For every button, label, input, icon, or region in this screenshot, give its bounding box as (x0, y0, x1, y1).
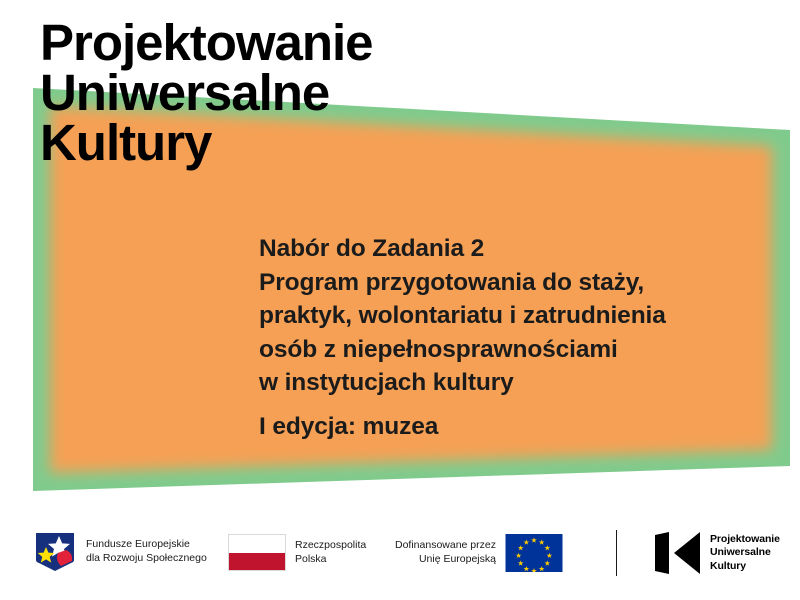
european-union-line-1: Dofinansowane przez (395, 539, 496, 553)
edition-line: I edycja: muzea (259, 410, 759, 444)
puk-line-1: Projektowanie (710, 533, 780, 547)
european-union-line-2: Unię Europejską (395, 553, 496, 567)
body-line-1: Nabór do Zadania 2 (259, 232, 759, 266)
poland-line-1: Rzeczpospolita (295, 539, 366, 553)
poland-label: Rzeczpospolita Polska (295, 539, 366, 567)
poland-flag-red-band (229, 553, 285, 571)
footer-logo-bar: Fundusze Europejskie dla Rozwoju Społecz… (0, 512, 800, 600)
european-union-flag-icon (505, 534, 563, 572)
european-union-label: Dofinansowane przez Unię Europejską (395, 539, 496, 567)
puk-line-2: Uniwersalne (710, 546, 780, 560)
european-funds-icon (33, 530, 77, 574)
headline-line-2: Uniwersalne (40, 68, 560, 118)
headline-line-3: Kultury (40, 118, 560, 168)
body-line-2: Program przygotowania do staży, (259, 266, 759, 300)
european-union-logo-block: Dofinansowane przez Unię Europejską (395, 534, 563, 572)
puk-label: Projektowanie Uniwersalne Kultury (710, 533, 780, 574)
european-funds-line-2: dla Rozwoju Społecznego (86, 552, 207, 566)
footer-divider (616, 530, 617, 576)
headline-line-1: Projektowanie (40, 18, 560, 68)
european-funds-logo-block: Fundusze Europejskie dla Rozwoju Społecz… (33, 530, 207, 574)
body-copy: Nabór do Zadania 2 Program przygotowania… (259, 232, 759, 443)
page-title: Projektowanie Uniwersalne Kultury (40, 18, 560, 168)
body-line-5: w instytucjach kultury (259, 366, 759, 400)
body-line-4: osób z niepełnosprawnościami (259, 333, 759, 367)
poland-line-2: Polska (295, 553, 366, 567)
poster-banner: Projektowanie Uniwersalne Kultury Nabór … (0, 0, 800, 512)
puk-logo-block: Projektowanie Uniwersalne Kultury (655, 532, 780, 574)
poland-flag-icon (228, 534, 286, 571)
puk-line-3: Kultury (710, 560, 780, 574)
european-funds-line-1: Fundusze Europejskie (86, 538, 207, 552)
european-funds-label: Fundusze Europejskie dla Rozwoju Społecz… (86, 538, 207, 566)
poland-flag-white-band (229, 535, 285, 553)
body-line-3: praktyk, wolontariatu i zatrudnienia (259, 299, 759, 333)
poland-logo-block: Rzeczpospolita Polska (228, 534, 366, 571)
puk-k-mark-icon (655, 532, 700, 574)
